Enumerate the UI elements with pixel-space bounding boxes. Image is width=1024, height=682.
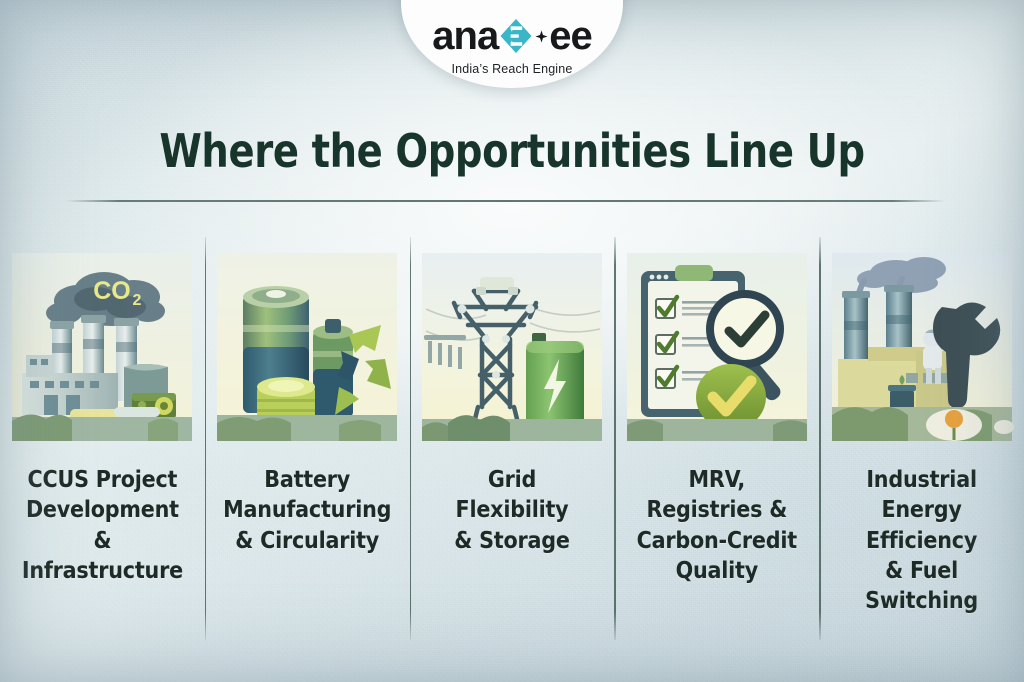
- caption-line: Registries &: [637, 495, 797, 525]
- brand-epsilon-mark-icon: [499, 18, 533, 54]
- caption-line: Energy Efficiency: [830, 495, 1014, 556]
- column-caption-mrv: MRV, Registries & Carbon-Credit Quality: [631, 465, 803, 586]
- svg-text:2: 2: [133, 292, 142, 309]
- column-caption-industrial: Industrial Energy Efficiency & Fuel Swit…: [824, 465, 1020, 617]
- transmission-tower-battery-icon: [418, 247, 606, 447]
- opportunity-columns: CO 2: [0, 237, 1024, 640]
- caption-line: & Circularity: [223, 526, 391, 556]
- caption-line: MRV,: [637, 465, 797, 495]
- caption-line: Manufacturing: [223, 495, 391, 525]
- column-caption-ccus: CCUS Project Development & Infrastructur…: [4, 465, 200, 586]
- brand-diamond-dot-icon: [535, 30, 548, 43]
- factory-co2-icon: CO 2: [8, 247, 196, 447]
- caption-line: Development: [10, 495, 194, 525]
- caption-line: & Fuel Switching: [830, 556, 1014, 617]
- title-divider-rule: [66, 200, 945, 202]
- column-industrial[interactable]: Industrial Energy Efficiency & Fuel Swit…: [819, 237, 1024, 640]
- column-caption-battery: Battery Manufacturing & Circularity: [217, 465, 397, 556]
- column-ccus[interactable]: CO 2: [0, 237, 205, 640]
- caption-line: Grid: [454, 465, 569, 495]
- co2-label: CO: [94, 277, 132, 305]
- industrial-plant-wrench-icon: [828, 247, 1016, 447]
- caption-line: & Infrastructure: [10, 526, 194, 587]
- caption-line: Quality: [637, 556, 797, 586]
- battery-recycling-icon: [213, 247, 401, 447]
- caption-line: & Storage: [454, 526, 569, 556]
- column-battery[interactable]: Battery Manufacturing & Circularity: [205, 237, 410, 640]
- clipboard-checklist-magnifier-icon: [623, 247, 811, 447]
- column-grid[interactable]: Grid Flexibility & Storage: [410, 237, 615, 640]
- caption-line: Flexibility: [454, 495, 569, 525]
- brand-tagline: India’s Reach Engine: [452, 62, 573, 76]
- brand-name-suffix: ee: [549, 16, 592, 56]
- caption-line: Industrial: [830, 465, 1014, 495]
- brand-name-prefix: ana: [432, 16, 498, 56]
- column-caption-grid: Grid Flexibility & Storage: [448, 465, 575, 556]
- column-mrv[interactable]: MRV, Registries & Carbon-Credit Quality: [614, 237, 819, 640]
- brand-wordmark: ana ee: [432, 16, 591, 56]
- page-title: Where the Opportunities Line Up: [36, 124, 988, 178]
- caption-line: Battery: [223, 465, 391, 495]
- caption-line: Carbon-Credit: [637, 526, 797, 556]
- caption-line: CCUS Project: [10, 465, 194, 495]
